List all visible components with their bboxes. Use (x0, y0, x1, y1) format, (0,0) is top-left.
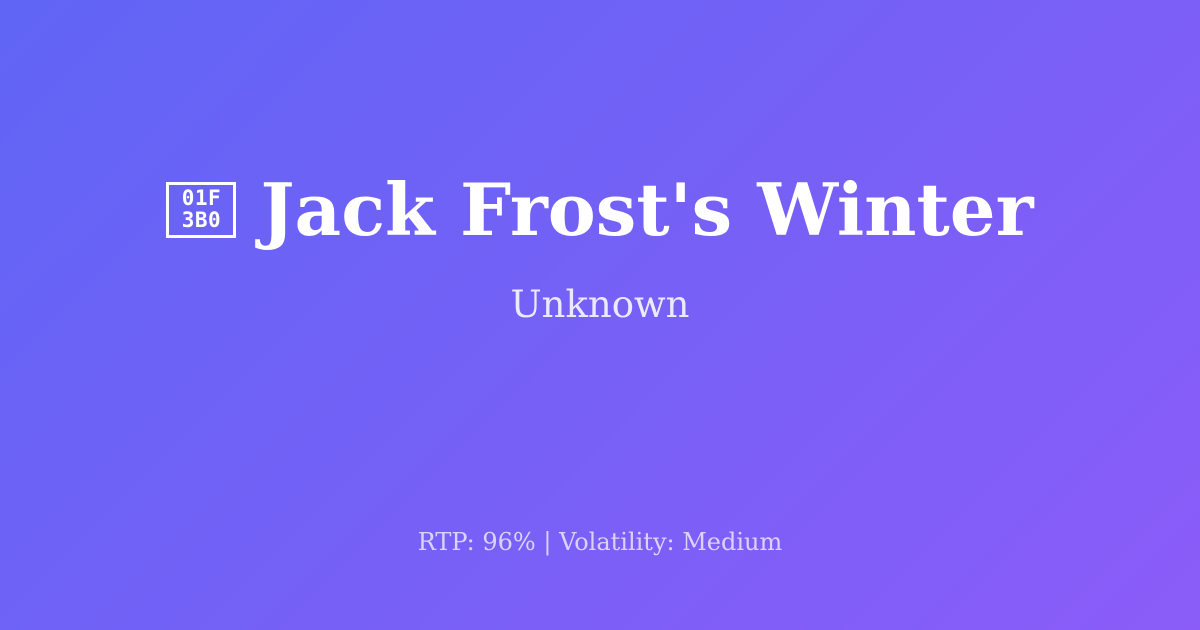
provider-subtitle: Unknown (510, 283, 689, 327)
slot-machine-emoji-icon: 01F 3B0 (166, 182, 236, 238)
page-title: Jack Frost's Winter (260, 171, 1033, 249)
card-center-block: 01F 3B0 Jack Frost's Winter Unknown (0, 0, 1200, 498)
tofu-codepoint-top: 01F (182, 188, 221, 209)
title-row: 01F 3B0 Jack Frost's Winter (40, 171, 1160, 249)
game-promo-card: 01F 3B0 Jack Frost's Winter Unknown RTP:… (0, 0, 1200, 630)
tofu-codepoint-bottom: 3B0 (182, 210, 221, 231)
game-stats-line: RTP: 96% | Volatility: Medium (0, 528, 1200, 557)
